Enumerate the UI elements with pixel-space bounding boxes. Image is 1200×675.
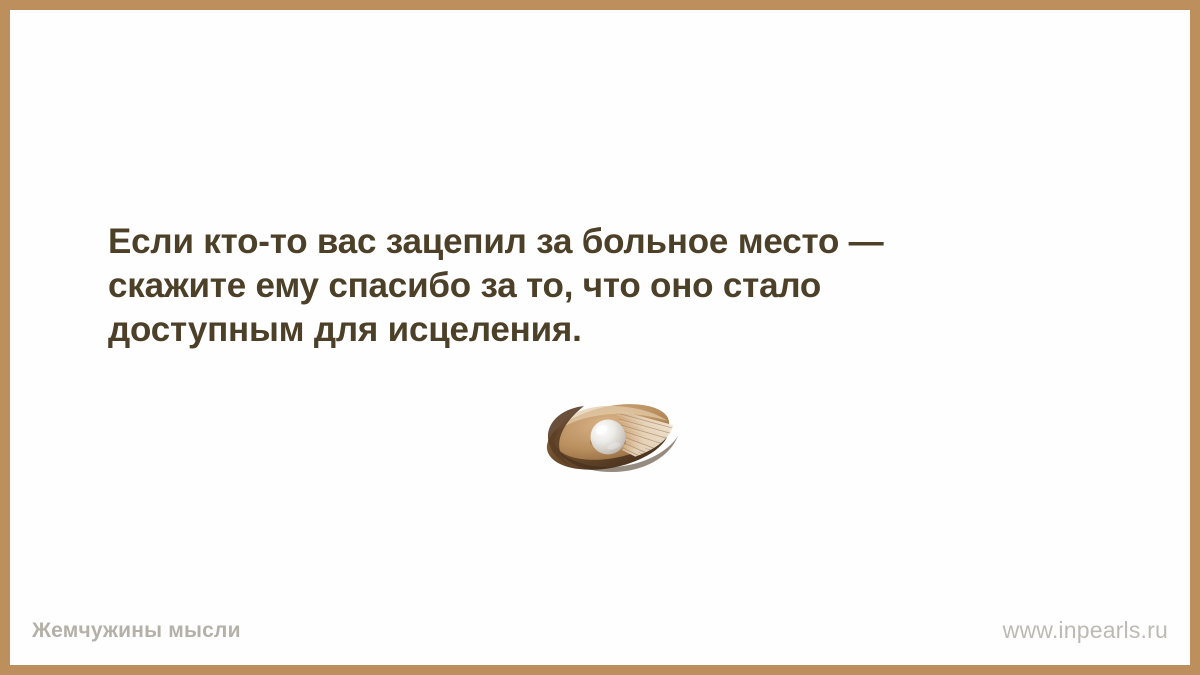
quote-card: Если кто-то вас зацепил за больное место… [0,0,1200,675]
oyster-shell-with-pearl-icon [540,392,685,477]
site-url-label[interactable]: www.inpearls.ru [1003,617,1168,644]
quote-line-3: доступным для исцеления. [108,308,1108,352]
brand-label: Жемчужины мысли [32,619,241,643]
quote-line-2: скажите ему спасибо за то, что оно стало [108,264,1108,308]
quote-line-1: Если кто-то вас зацепил за больное место… [108,220,1108,264]
quote-text: Если кто-то вас зацепил за больное место… [108,220,1108,352]
